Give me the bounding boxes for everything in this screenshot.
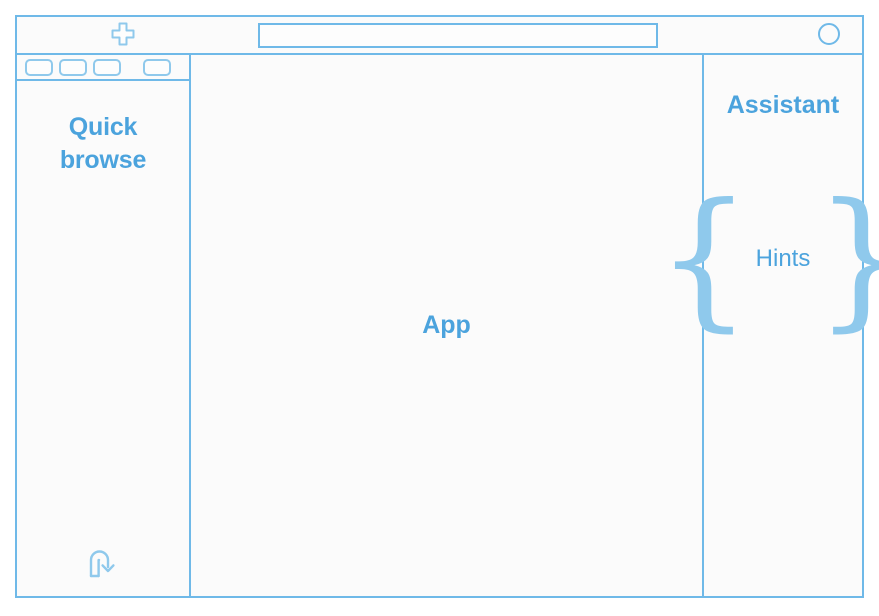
screenshot-root: Quick browse <box>0 0 879 616</box>
sidebar-tab-1[interactable] <box>25 59 53 76</box>
browser-toolbar <box>17 17 862 55</box>
sidebar-tab-2[interactable] <box>59 59 87 76</box>
quick-browse-sidebar: Quick browse <box>17 55 191 596</box>
app-title: App <box>422 311 471 340</box>
window-frame: Quick browse <box>15 15 864 598</box>
history-back-button[interactable] <box>17 547 189 584</box>
quick-browse-title-line-2: browse <box>17 144 189 177</box>
quick-browse-title: Quick browse <box>17 111 189 176</box>
circle-avatar-icon <box>817 22 841 51</box>
hints-block: { Hints } <box>704 205 862 313</box>
sidebar-tab-add-button[interactable] <box>143 59 171 76</box>
hints-label: Hints <box>752 245 815 273</box>
window-body: Quick browse <box>17 55 862 596</box>
assistant-panel: Assistant { Hints } <box>704 55 862 596</box>
app-content-panel: App <box>191 55 704 596</box>
quick-browse-title-line-1: Quick <box>17 111 189 144</box>
account-button[interactable] <box>817 24 841 48</box>
address-bar-input[interactable] <box>258 23 658 48</box>
new-tab-button[interactable] <box>104 24 142 48</box>
u-turn-arrow-icon <box>86 547 120 584</box>
hints-brace-left: { <box>656 205 751 313</box>
hints-brace-right: } <box>814 205 879 313</box>
sidebar-tab-strip <box>17 55 189 81</box>
sidebar-content: Quick browse <box>17 81 189 596</box>
plus-icon <box>110 21 136 52</box>
assistant-title: Assistant <box>704 91 862 120</box>
sidebar-tab-3[interactable] <box>93 59 121 76</box>
